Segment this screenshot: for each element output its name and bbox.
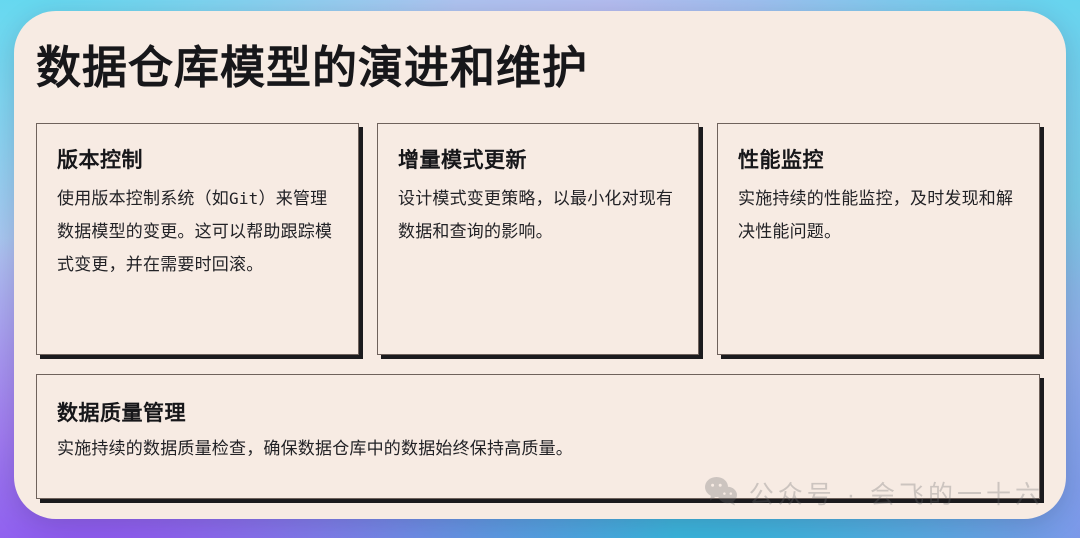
card-body: 实施持续的数据质量检查，确保数据仓库中的数据始终保持高质量。 [57, 435, 1009, 462]
screenshot-stage: 数据仓库模型的演进和维护 版本控制 使用版本控制系统（如Git）来管理数据模型的… [0, 0, 1080, 538]
card-title: 数据质量管理 [57, 397, 186, 427]
card-data-quality-management[interactable]: 数据质量管理 实施持续的数据质量检查，确保数据仓库中的数据始终保持高质量。 [36, 374, 1040, 499]
card-body: 使用版本控制系统（如Git）来管理数据模型的变更。这可以帮助跟踪模式变更，并在需… [57, 182, 341, 281]
card-performance-monitoring[interactable]: 性能监控 实施持续的性能监控，及时发现和解决性能问题。 [717, 123, 1040, 355]
slide-panel: 数据仓库模型的演进和维护 版本控制 使用版本控制系统（如Git）来管理数据模型的… [14, 11, 1066, 519]
card-title: 性能监控 [738, 144, 824, 174]
card-body-pre: 使用版本控制系统（如 [57, 189, 229, 208]
card-version-control[interactable]: 版本控制 使用版本控制系统（如Git）来管理数据模型的变更。这可以帮助跟踪模式变… [36, 123, 359, 355]
card-incremental-schema-update[interactable]: 增量模式更新 设计模式变更策略，以最小化对现有数据和查询的影响。 [377, 123, 699, 355]
page-title: 数据仓库模型的演进和维护 [36, 31, 588, 96]
card-body: 设计模式变更策略，以最小化对现有数据和查询的影响。 [398, 182, 681, 248]
card-title: 版本控制 [57, 144, 143, 174]
card-body: 实施持续的性能监控，及时发现和解决性能问题。 [738, 182, 1022, 248]
card-title: 增量模式更新 [398, 144, 527, 174]
card-body-code: Git [229, 189, 259, 208]
